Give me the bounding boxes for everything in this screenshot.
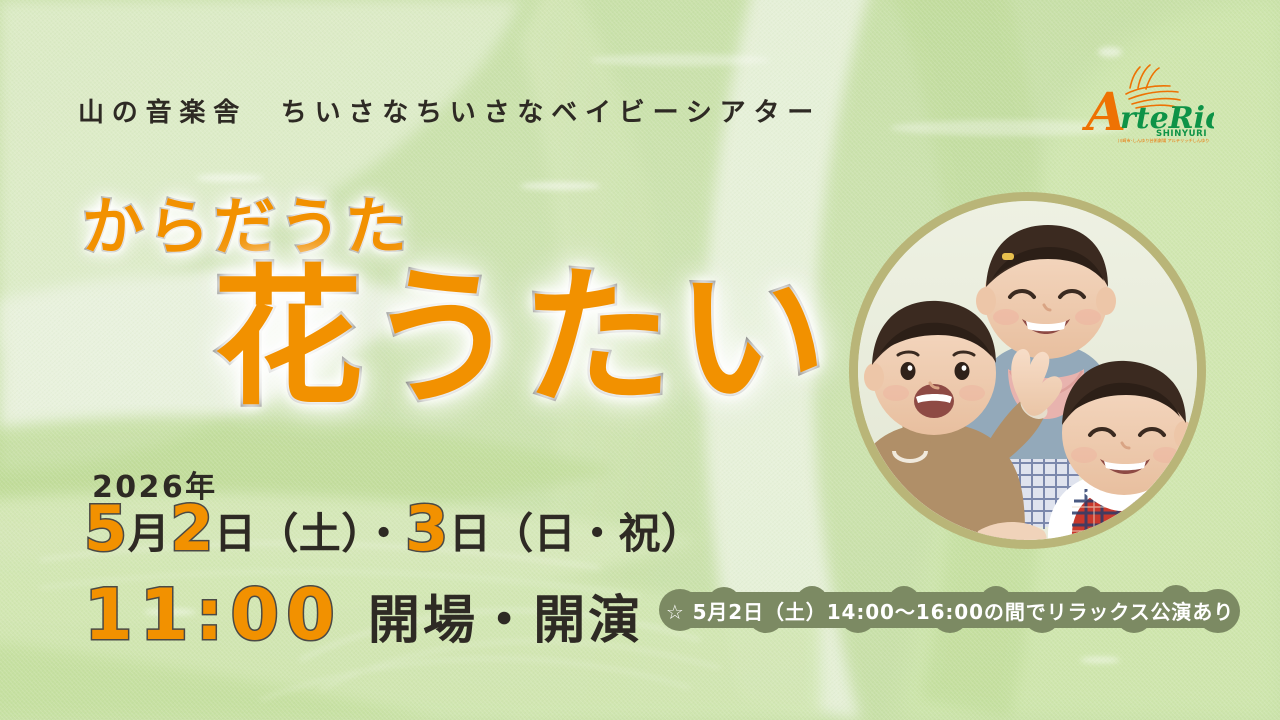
babies-photo-illustration	[858, 201, 1197, 540]
time-line: 11:00 開場・開演	[84, 580, 643, 650]
title-hanautai: 花うたい	[213, 264, 831, 414]
event-series-subtitle: 山の音楽舎 ちいさなちいさなベイビーシアター	[78, 92, 821, 129]
banner-text: ☆ 5月2日（土）14:00〜16:00の間でリラックス公演あり	[646, 584, 1254, 636]
arte-ricca-logo-svg: A rteRicca SHINYURI 川崎市･しんゆり芸術劇場 アルテリッチし…	[1074, 58, 1214, 143]
date-day1-number: 2	[170, 498, 214, 560]
relax-performance-banner: ☆ 5月2日（土）14:00〜16:00の間でリラックス公演あり	[646, 584, 1254, 636]
date-line: 5 月 2 日（土）・ 3 日（日・祝）	[84, 498, 703, 560]
arte-ricca-logo[interactable]: A rteRicca SHINYURI 川崎市･しんゆり芸術劇場 アルテリッチし…	[1074, 58, 1214, 143]
babies-photo-frame	[849, 192, 1206, 549]
logo-tiny-text: 川崎市･しんゆり芸術劇場 アルテリッチしんゆり	[1118, 137, 1209, 143]
start-time-label: 開場・開演	[368, 595, 644, 647]
start-time-value: 11:00	[84, 580, 342, 650]
date-month-number: 5	[84, 498, 128, 560]
poster-canvas: 山の音楽舎 ちいさなちいさなベイビーシアター A rteRicca SHINYU…	[0, 0, 1280, 720]
babies-photo	[858, 201, 1197, 540]
date-day1-unit: 日（土）・	[214, 513, 405, 555]
date-day2-unit: 日（日・祝）	[449, 513, 704, 555]
date-month-unit: 月	[128, 513, 170, 555]
date-day2-number: 3	[405, 498, 449, 560]
